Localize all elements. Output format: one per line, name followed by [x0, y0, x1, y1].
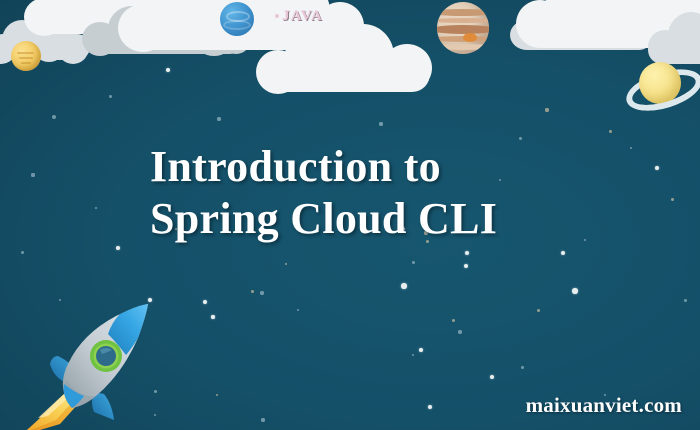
star	[465, 251, 469, 255]
page-title: Introduction to Spring Cloud CLI	[150, 141, 570, 245]
star	[521, 366, 524, 369]
star	[21, 251, 24, 254]
star	[116, 246, 121, 251]
star	[655, 166, 659, 170]
star	[52, 115, 56, 119]
star	[203, 300, 207, 304]
title-line-1: Introduction to	[150, 142, 441, 191]
neptune-planet	[220, 2, 254, 36]
rocket-illustration	[12, 300, 162, 430]
star	[31, 173, 34, 176]
star	[251, 290, 254, 293]
star	[211, 315, 214, 318]
gold-planet	[11, 41, 41, 71]
java-tag-bullet-icon	[275, 14, 279, 18]
star	[297, 309, 300, 312]
title-line-2: Spring Cloud CLI	[150, 193, 570, 245]
star	[464, 264, 468, 268]
star	[412, 261, 415, 264]
watermark: maixuanviet.com	[526, 393, 682, 418]
java-tag-label: JAVA	[282, 8, 323, 24]
star	[458, 330, 461, 333]
java-tag: JAVA	[275, 8, 323, 25]
star	[630, 147, 633, 150]
star	[401, 283, 406, 288]
cloud-top-far-right	[648, 8, 700, 64]
star	[166, 68, 170, 72]
star	[419, 348, 423, 352]
star	[537, 309, 540, 312]
star	[428, 405, 432, 409]
banner-root: JAVA Introduction to Spring Cloud CLI ma…	[0, 0, 700, 430]
star	[216, 394, 219, 397]
star	[260, 291, 263, 294]
star	[285, 263, 288, 266]
star	[217, 117, 220, 120]
star	[412, 354, 415, 357]
cloud-center-low	[256, 24, 436, 94]
star	[584, 239, 587, 242]
star	[545, 108, 548, 111]
star	[109, 95, 112, 98]
jupiter-planet	[437, 2, 489, 54]
star	[379, 122, 382, 125]
star	[671, 198, 674, 201]
star	[490, 375, 494, 379]
star	[95, 207, 98, 210]
star	[452, 319, 455, 322]
saturn-planet	[623, 58, 695, 112]
star	[519, 137, 522, 140]
star	[261, 418, 264, 421]
star	[561, 251, 566, 256]
star	[684, 299, 687, 302]
star	[609, 130, 612, 133]
star	[572, 288, 577, 293]
